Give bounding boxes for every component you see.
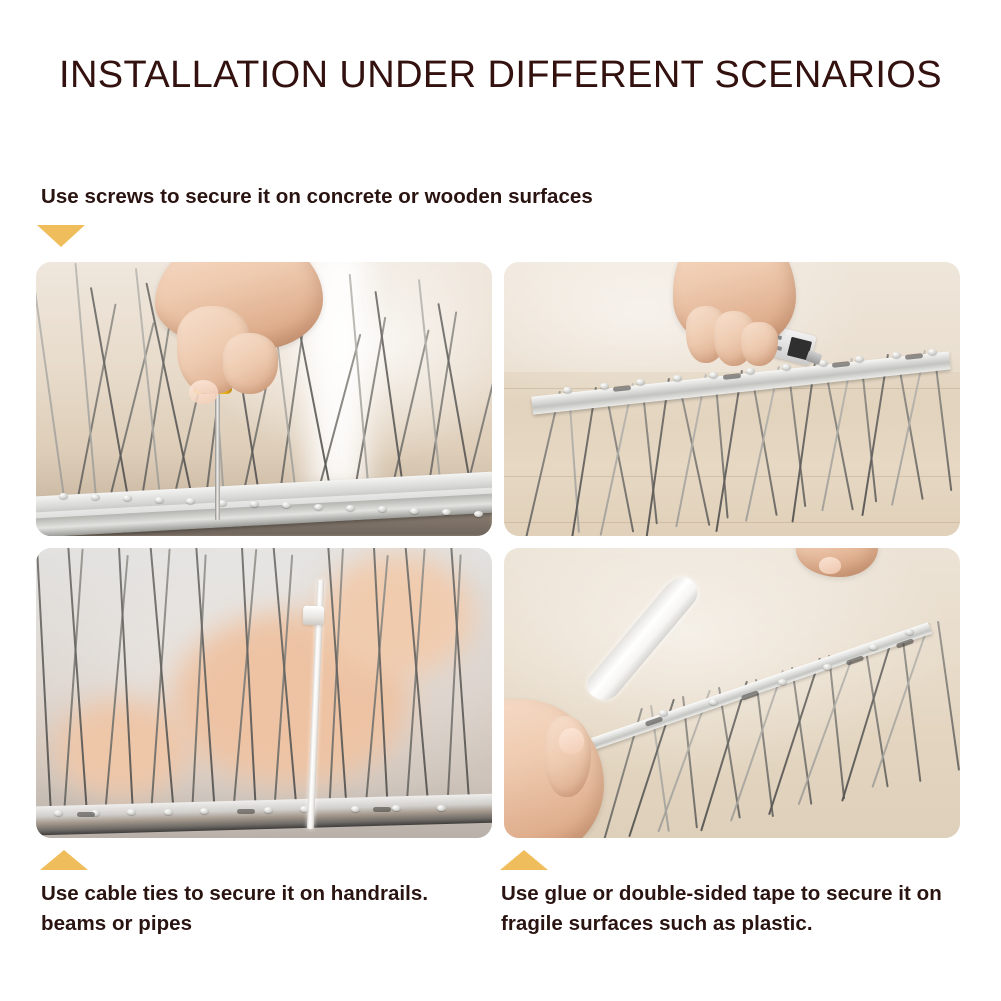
thumb	[223, 333, 278, 393]
page-title: INSTALLATION UNDER DIFFERENT SCENARIOS	[0, 52, 1001, 98]
fingernail	[819, 557, 842, 574]
double-sided-tape	[581, 571, 705, 705]
caption-bottom-right-glue-tape: Use glue or double-sided tape to secure …	[501, 879, 951, 939]
fingernail	[189, 380, 219, 405]
triangle-down-icon	[37, 225, 85, 247]
tile-grout-line	[504, 476, 960, 477]
cable-tie-head	[303, 606, 325, 626]
panel-tape[interactable]	[504, 548, 960, 838]
panel-cable-ties[interactable]	[36, 548, 492, 838]
panel-glue[interactable]	[504, 262, 960, 536]
photo-grid	[36, 262, 960, 838]
infographic-page: INSTALLATION UNDER DIFFERENT SCENARIOS U…	[0, 0, 1001, 1001]
screwdriver-shaft	[215, 394, 220, 520]
caption-top-screws: Use screws to secure it on concrete or w…	[41, 182, 681, 212]
thumb	[741, 322, 777, 366]
caption-bottom-left-cable-ties: Use cable ties to secure it on handrails…	[41, 879, 471, 939]
triangle-up-icon-right	[500, 850, 548, 870]
fingernail	[559, 728, 584, 754]
panel-screws[interactable]	[36, 262, 492, 536]
triangle-up-icon-left	[40, 850, 88, 870]
